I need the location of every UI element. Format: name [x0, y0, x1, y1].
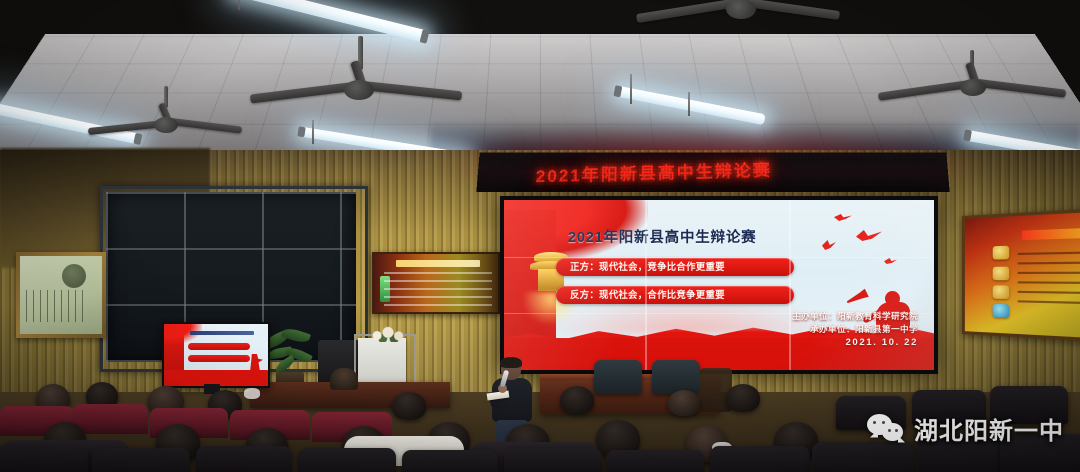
poster-chip-2	[993, 267, 1010, 281]
ceiling-fan-center	[258, 58, 458, 118]
auditorium-chair-front[interactable]	[92, 448, 190, 472]
poster-chip-4	[993, 304, 1010, 318]
wechat-watermark: 湖北阳新一中	[867, 411, 1064, 446]
slide-title: 2021年阳新县高中生辩论赛	[568, 226, 818, 247]
light-drop-rod-1	[238, 0, 240, 10]
ceiling-fan-right	[642, 0, 832, 44]
auditorium-chair-front[interactable]	[606, 450, 704, 472]
poster-chip-3	[993, 285, 1010, 299]
auditorium-chair-front[interactable]	[710, 446, 810, 472]
audience-head	[726, 384, 760, 412]
slide-organizer: 主办单位：阳新教育科学研究院	[792, 310, 918, 322]
auditorium-chair-front[interactable]	[504, 448, 602, 472]
ceiling-fan-far-right	[880, 54, 1060, 114]
dove-icon-2	[856, 230, 882, 241]
slide-con-statement: 反方：现代社会，合作比竞争更重要	[556, 286, 794, 304]
auditorium-chair-front[interactable]	[812, 442, 916, 472]
wechat-icon	[867, 414, 905, 444]
auditorium-chair-front[interactable]	[402, 450, 498, 472]
presentation-slide: 2021年阳新县高中生辩论赛 正方：现代社会，竞争比合作更重要 反方：现代社会，…	[504, 200, 934, 370]
dove-icon-3	[822, 240, 836, 250]
dove-icon-1	[834, 214, 852, 221]
slide-credits: 主办单位：阳新教育科学研究院 承办单位：阳新县第一中学 2021. 10. 22	[792, 310, 918, 350]
auditorium-photo: 2021年阳新县高中生辩论赛 2021年阳新县高	[0, 0, 1080, 472]
slide-pro-statement: 正方：现代社会，竞争比合作更重要	[556, 258, 794, 276]
slide-co-organizer: 承办单位：阳新县第一中学	[792, 323, 918, 335]
auditorium-chair-front[interactable]	[0, 446, 88, 472]
auditorium-chair-front[interactable]	[298, 448, 396, 472]
dove-icon-4	[884, 258, 897, 264]
monitor-title-bar	[190, 331, 254, 335]
auditorium-chair[interactable]	[72, 404, 148, 434]
poster-title-bar	[396, 260, 480, 267]
framed-calligraphy-artwork	[16, 252, 106, 338]
wall-poster-core-competencies	[372, 252, 500, 314]
led-pixel-grid	[476, 152, 949, 191]
slide-date: 2021. 10. 22	[792, 336, 918, 350]
poster-text-rows	[384, 272, 492, 306]
side-preview-monitor	[162, 322, 270, 388]
poster-chip-1	[993, 246, 1010, 260]
right-poster-title-bar	[1022, 228, 1080, 240]
ceiling-fan-left	[92, 100, 242, 150]
light-drop-rod-4	[630, 74, 632, 104]
flower-arrangement	[366, 326, 410, 342]
watermark-text: 湖北阳新一中	[914, 411, 1064, 446]
wall-poster-reading-theme	[962, 208, 1080, 341]
led-video-wall: 2021年阳新县高中生辩论赛 正方：现代社会，竞争比合作更重要 反方：现代社会，…	[500, 196, 938, 374]
monitor-con-pill	[188, 355, 250, 362]
audience-head	[668, 390, 700, 416]
light-drop-rod-4b	[688, 92, 690, 116]
artwork-text-lines	[26, 290, 86, 322]
led-ticker-banner: 2021年阳新县高中生辩论赛	[476, 152, 949, 191]
audience-head	[392, 392, 426, 420]
audience-head	[560, 386, 594, 414]
auditorium-chair-front[interactable]	[196, 446, 292, 472]
right-poster-text-rows	[1018, 246, 1080, 304]
face-mask	[244, 388, 260, 399]
monitor-pro-pill	[188, 343, 250, 350]
artwork-seal	[62, 264, 86, 288]
light-drop-rod-3	[312, 120, 314, 144]
